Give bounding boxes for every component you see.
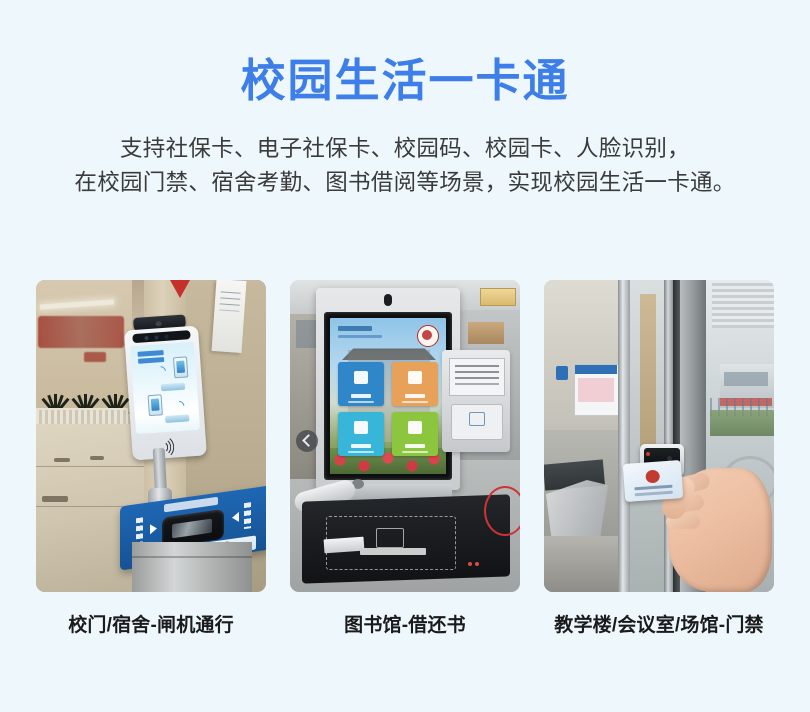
scene-caption: 校门/宿舍-闸机通行 [36,610,266,637]
photo1-wall-calligraphy [38,316,124,348]
tile-label [351,394,371,398]
page-title: 校园生活一卡通 [0,56,810,106]
social-security-card[interactable] [623,460,684,502]
account-icon [408,421,422,434]
tile-label [405,444,425,448]
tile-sublabel [402,451,428,453]
chevron-left-icon [232,512,239,523]
book-icon [376,528,404,548]
scene-caption: 图书馆-借还书 [290,610,520,637]
camera-icon [384,294,392,306]
photo1-notice-paper [212,280,247,353]
notice-board-body [578,378,614,402]
tile-sublabel [402,401,428,403]
turnstile-text-left [136,517,143,544]
chevron-right-icon [150,523,157,534]
outdoor-hedge [710,410,774,436]
card-tap-pad[interactable] [451,404,503,440]
page-subtitle: 支持社保卡、电子社保卡、校园码、校园卡、人脸识别， 在校园门禁、宿舍考勤、图书借… [0,132,810,200]
kiosk-menu-tiles [338,362,438,456]
scene-card-library[interactable]: 图书馆-借还书 [290,280,520,637]
phone-icon [148,394,163,416]
book-icon [354,371,368,384]
door-frame-left [618,280,630,592]
photo2-carton-box [468,322,504,344]
tile-label [351,444,371,448]
nfc-wave-icon [172,399,186,413]
promo-page: 校园生活一卡通 支持社保卡、电子社保卡、校园码、校园卡、人脸识别， 在校园门禁、… [0,0,810,712]
floor-tile [54,458,70,462]
floor-tile [90,456,104,460]
photo-library [290,280,520,592]
notice-board-header [575,365,617,374]
book-zone-label [360,548,426,555]
tile-return[interactable] [392,362,438,406]
camera-icon [132,330,190,343]
tile-account[interactable] [392,412,438,456]
scene-gallery: 校门/宿舍-闸机通行 [36,280,774,637]
national-emblem-icon [645,470,660,484]
status-led [468,562,472,566]
tile-search[interactable] [338,412,384,456]
scene-card-door-access[interactable]: 教学楼/会议室/场馆-门禁 [544,280,774,637]
subtitle-line-2: 在校园门禁、宿舍考勤、图书借阅等场景，实现校园生活一卡通。 [0,166,810,200]
cable-loop [484,486,520,536]
face-recognition-terminal[interactable] [123,314,207,461]
photo1-red-banner [170,280,190,298]
scene-card-turnstile[interactable]: 校门/宿舍-闸机通行 [36,280,266,637]
tile-sublabel [348,401,374,403]
subtitle-line-1: 支持社保卡、电子社保卡、校园码、校园卡、人脸识别， [0,132,810,166]
ceiling-blinds [712,280,774,328]
terminal-body [124,326,207,461]
tile-borrow[interactable] [338,362,384,406]
school-emblem-icon [417,325,439,347]
kiosk-side-panel[interactable] [442,350,510,452]
kiosk-screen-bezel [324,312,452,480]
gate-graphic [165,414,189,423]
status-led [646,452,650,456]
door-reflection-strip [640,294,656,454]
screen-title-bar [338,326,372,331]
tile-label [405,394,425,398]
floor-seam [36,466,154,467]
wayfinding-icon [556,366,568,380]
library-kiosk-body[interactable] [316,288,460,490]
scene-caption: 教学楼/会议室/场馆-门禁 [544,610,774,637]
photo1-wall-seal [84,352,106,362]
search-icon [354,421,368,434]
photo-door-access [544,280,774,592]
interior-floor [544,536,624,592]
screen-headline [137,350,163,357]
phone-icon [173,356,188,378]
return-icon [408,371,422,384]
tile-sublabel [348,451,374,453]
turnstile-pedestal-seam [132,556,252,558]
floor-tile [42,496,68,502]
gate-graphic [161,383,185,392]
screen-subtitle-bar [338,335,382,338]
photo2-wall-sign [480,288,516,306]
photo-turnstile [36,280,266,592]
terminal-screen [130,342,200,434]
placed-book [324,537,365,554]
outdoor-window [724,372,768,386]
nfc-wave-icon [154,364,168,378]
turnstile-pedestal [132,542,252,592]
card-text-lines [634,485,672,490]
library-kiosk-screen[interactable] [330,318,446,474]
instruction-note [449,358,505,396]
turnstile-text-right [244,502,251,529]
page-header: 校园生活一卡通 支持社保卡、电子社保卡、校园码、校园卡、人脸识别， 在校园门禁、… [0,0,810,200]
chevron-left-icon[interactable] [296,430,318,452]
